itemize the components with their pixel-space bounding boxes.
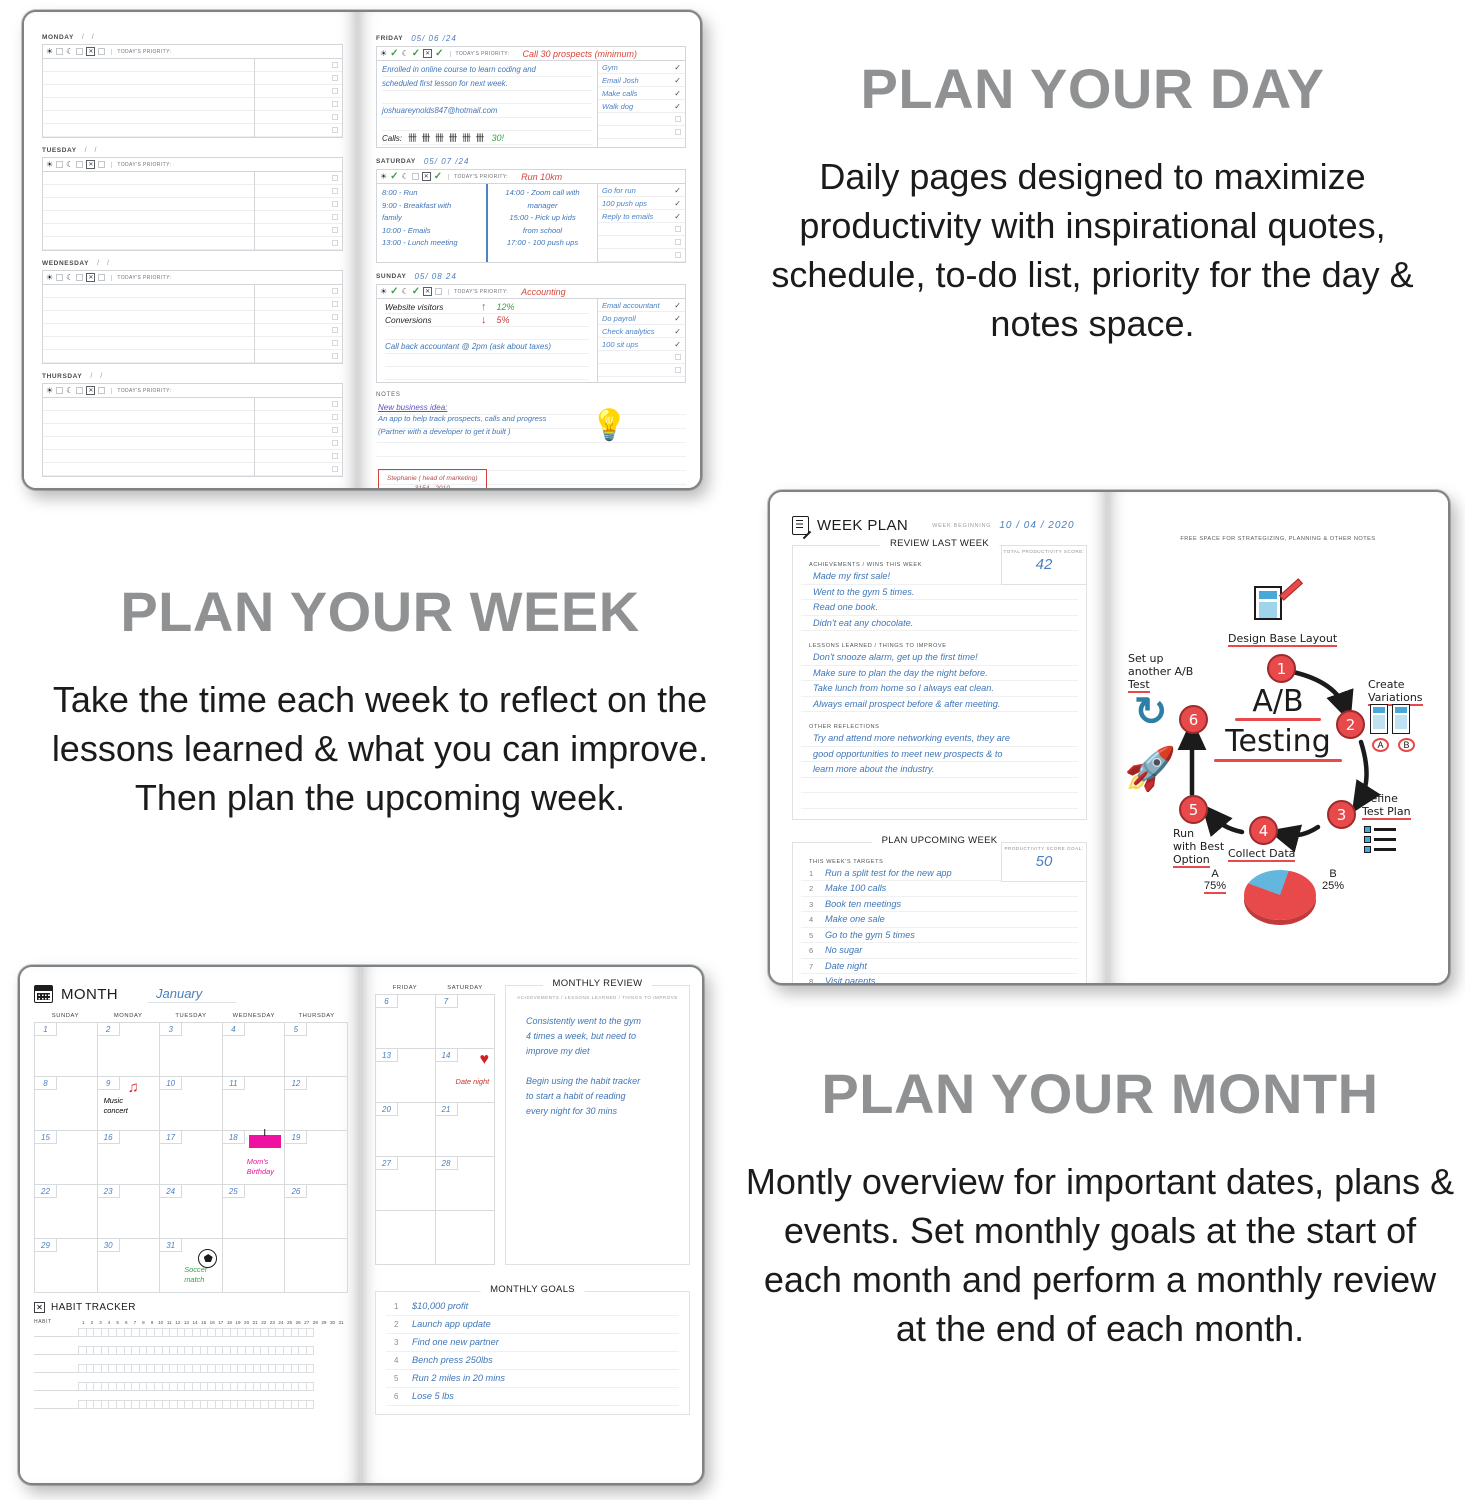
- habit-cell[interactable]: [306, 1328, 315, 1337]
- todo-checkbox[interactable]: [675, 116, 681, 122]
- todo-row[interactable]: [598, 113, 685, 126]
- day-body: Enrolled in online course to learn codin…: [376, 61, 686, 148]
- todo-checkbox[interactable]: [332, 88, 338, 94]
- todo-checkbox[interactable]: [332, 240, 338, 246]
- todo-checkbox[interactable]: [332, 62, 338, 68]
- metric-row: Website visitors↑12%: [385, 301, 589, 314]
- todo-checkbox[interactable]: [332, 301, 338, 307]
- day-block: TUESDAY/ /☀☾✕TODAY'S PRIORITY:: [42, 147, 343, 251]
- priority-label: TODAY'S PRIORITY:: [111, 275, 171, 281]
- priority-label: TODAY'S PRIORITY:: [111, 49, 171, 55]
- calls-label: Calls:: [382, 134, 402, 143]
- day-notes-area[interactable]: [43, 59, 254, 137]
- priority-row: ☀☾✕TODAY'S PRIORITY:: [42, 270, 343, 285]
- todo-row[interactable]: [255, 350, 342, 363]
- month-planner-notebook: MONTHJanuarySUNDAYMONDAYTUESDAYWEDNESDAY…: [18, 965, 704, 1485]
- schedule-column-afternoon[interactable]: 14:00 - Zoom call withmanager15:00 - Pic…: [486, 184, 597, 262]
- blank-line: [385, 327, 589, 340]
- monthly-goals-title: MONTHLY GOALS: [480, 1284, 585, 1295]
- todo-row[interactable]: [598, 236, 685, 249]
- todo-checkbox[interactable]: [332, 114, 338, 120]
- plan-your-week-copy: PLAN YOUR WEEK Take the time each week t…: [10, 583, 750, 823]
- lesson-line: Take lunch from home so I always eat cle…: [801, 681, 1078, 697]
- calendar-cell[interactable]: 11: [223, 1077, 286, 1131]
- target-text: Date night: [825, 959, 867, 974]
- day-number: 19: [285, 1131, 307, 1144]
- todo-row[interactable]: [255, 311, 342, 324]
- checkbox[interactable]: [412, 173, 419, 180]
- day-notes-area[interactable]: [43, 285, 254, 363]
- checkbox[interactable]: [76, 274, 83, 281]
- diagram-step-5: 5: [1179, 795, 1208, 824]
- habit-day-number: 31: [337, 1320, 346, 1325]
- todo-checkbox[interactable]: [332, 214, 338, 220]
- calendar-cell[interactable]: 3: [160, 1023, 223, 1077]
- day-block: MONDAY/ /☀☾✕TODAY'S PRIORITY:: [42, 34, 343, 138]
- day-body: Website visitors↑12%Conversions↓5%Call b…: [376, 299, 686, 383]
- priority-label: TODAY'S PRIORITY:: [450, 51, 510, 57]
- plan-your-month-copy: PLAN YOUR MONTH Montly overview for impo…: [745, 1065, 1455, 1354]
- day-number: 28: [436, 1157, 458, 1170]
- todo-row[interactable]: [255, 237, 342, 250]
- todo-checkbox[interactable]: [675, 239, 681, 245]
- schedule-line: manager: [493, 200, 592, 213]
- review-line: 4 times a week, but need to: [526, 1029, 669, 1044]
- day-name: THURSDAY: [42, 373, 82, 380]
- day-number: 24: [160, 1185, 182, 1198]
- calendar-cell[interactable]: 16: [98, 1131, 161, 1185]
- habit-day-number: 24: [277, 1320, 286, 1325]
- label-line: Define: [1362, 792, 1398, 805]
- todo-checkbox[interactable]: [332, 188, 338, 194]
- calendar-cell[interactable]: 17: [160, 1131, 223, 1185]
- diagram-label-1: Design Base Layout: [1228, 632, 1378, 647]
- todo-checkbox[interactable]: [675, 226, 681, 232]
- day-name: WEDNESDAY: [42, 260, 89, 267]
- todo-row[interactable]: [255, 337, 342, 350]
- sun-icon: ☀: [380, 288, 387, 296]
- schedule-line: 14:00 - Zoom call with: [493, 187, 592, 200]
- priority-row: ☀✓☾✓✕TODAY'S PRIORITY:Accounting: [376, 284, 686, 299]
- schedule-line: family: [382, 212, 481, 225]
- calendar-cell[interactable]: 6: [376, 995, 436, 1049]
- review-line: Begin using the habit tracker: [526, 1074, 669, 1089]
- todo-checkbox[interactable]: [332, 353, 338, 359]
- calendar-cell[interactable]: 1: [35, 1023, 98, 1077]
- todo-row[interactable]: [255, 285, 342, 298]
- plan-your-day-copy: PLAN YOUR DAY Daily pages designed to ma…: [735, 60, 1450, 349]
- day-block: WEDNESDAY/ /☀☾✕TODAY'S PRIORITY:: [42, 260, 343, 364]
- checkbox[interactable]: [56, 387, 63, 394]
- free-space-note: FREE SPACE FOR STRATEGIZING, PLANNING & …: [1118, 512, 1438, 542]
- x-box-icon: ✕: [86, 273, 95, 282]
- goal-text: Lose 5 lbs: [412, 1388, 454, 1405]
- review-line: every night for 30 mins: [526, 1104, 669, 1119]
- todo-row[interactable]: [255, 185, 342, 198]
- calendar-cell[interactable]: 9♫Musicconcert: [98, 1077, 161, 1131]
- goal-text: Run 2 miles in 20 mins: [412, 1370, 505, 1387]
- calendar-cell[interactable]: 22: [35, 1185, 98, 1239]
- dow-label: THURSDAY: [285, 1013, 348, 1022]
- habit-cell[interactable]: [306, 1400, 315, 1409]
- checkbox[interactable]: [56, 161, 63, 168]
- todo-row[interactable]: [598, 364, 685, 377]
- target-row[interactable]: 3Book ten meetings: [801, 897, 1078, 913]
- calendar-cell[interactable]: 31Soccermatch: [160, 1239, 223, 1293]
- todo-column: [254, 285, 342, 363]
- design-layout-icon: [1254, 586, 1282, 620]
- notepad-pencil-icon: [792, 516, 809, 535]
- goal-row[interactable]: 4Bench press 250lbs: [386, 1352, 679, 1370]
- day-number: 20: [376, 1103, 398, 1116]
- calendar-cell[interactable]: [285, 1239, 348, 1293]
- note-line: scheduled first lesson for next week.: [382, 77, 592, 91]
- calendar-cell[interactable]: 14♥Date night: [436, 1049, 496, 1103]
- calendar-cell[interactable]: 20: [376, 1103, 436, 1157]
- priority-row: ☀✓☾✕✓TODAY'S PRIORITY:Run 10km: [376, 169, 686, 184]
- calendar-event: Soccermatch: [184, 1265, 207, 1285]
- todo-row[interactable]: Email Josh✓: [598, 74, 685, 87]
- calendar-cell[interactable]: [436, 1211, 496, 1265]
- calendar-cell[interactable]: 15: [35, 1131, 98, 1185]
- todo-row[interactable]: [255, 172, 342, 185]
- habit-day-number: 19: [234, 1320, 243, 1325]
- reflection-line: Try and attend more networking events, t…: [801, 731, 1078, 747]
- calendar-cell[interactable]: 28: [436, 1157, 496, 1211]
- notes-area[interactable]: New business idea:An app to help track p…: [376, 401, 686, 490]
- plan-your-week-heading: PLAN YOUR WEEK: [10, 583, 750, 642]
- todo-checkbox[interactable]: [332, 127, 338, 133]
- todo-row[interactable]: [255, 59, 342, 72]
- plan-your-month-body: Montly overview for important dates, pla…: [745, 1158, 1455, 1354]
- calendar-cell[interactable]: 4: [223, 1023, 286, 1077]
- todo-row[interactable]: [255, 411, 342, 424]
- target-text: Go to the gym 5 times: [825, 928, 915, 943]
- todo-checkbox[interactable]: [332, 288, 338, 294]
- todo-column: [254, 172, 342, 250]
- pie-b-letter: B: [1322, 868, 1344, 880]
- schedule-column-morning[interactable]: 8:00 - Run9:00 - Breakfast withfamily10:…: [377, 184, 486, 262]
- calendar-cell[interactable]: [376, 1211, 436, 1265]
- lesson-line: Always email prospect before & after mee…: [801, 697, 1078, 713]
- target-number: 4: [809, 915, 818, 924]
- metric-label: Conversions: [385, 315, 471, 325]
- sun-icon: ☀: [380, 173, 387, 181]
- metric-arrow-icon: ↑: [481, 301, 487, 313]
- todo-checkbox[interactable]: [332, 327, 338, 333]
- target-row[interactable]: 2Make 100 calls: [801, 881, 1078, 897]
- habit-cell[interactable]: [306, 1382, 315, 1391]
- day-header: SATURDAY05/ 07 /24: [376, 157, 686, 166]
- todo-row[interactable]: [255, 211, 342, 224]
- dow-label: SUNDAY: [34, 1013, 97, 1022]
- todo-checkbox[interactable]: [332, 201, 338, 207]
- calendar-cell[interactable]: [223, 1239, 286, 1293]
- checkbox[interactable]: [76, 387, 83, 394]
- todo-label: Walk dog: [602, 102, 633, 111]
- upcoming-section-title: PLAN UPCOMING WEEK: [872, 835, 1008, 846]
- check-icon: ✓: [435, 49, 443, 59]
- calendar-cell[interactable]: 25: [223, 1185, 286, 1239]
- plan-your-week-body: Take the time each week to reflect on th…: [10, 676, 750, 823]
- label-line: with Best: [1173, 840, 1224, 853]
- target-row[interactable]: 5Go to the gym 5 times: [801, 928, 1078, 944]
- todo-row[interactable]: Make calls✓: [598, 87, 685, 100]
- week-plan-title: WEEK PLAN: [817, 517, 908, 534]
- todo-row[interactable]: [255, 85, 342, 98]
- habit-name-input[interactable]: [34, 1325, 79, 1337]
- x-box-icon: ✕: [423, 49, 432, 58]
- todo-row[interactable]: Go for run✓: [598, 184, 685, 197]
- habit-cells: [79, 1364, 314, 1373]
- todo-checkbox[interactable]: [332, 101, 338, 107]
- calendar-cell[interactable]: 8: [35, 1077, 98, 1131]
- target-row[interactable]: 7Date night: [801, 959, 1078, 975]
- todo-checkbox[interactable]: [332, 175, 338, 181]
- diagram-label-6: Set upanother A/BTest: [1128, 652, 1223, 693]
- target-row[interactable]: 8Visit parents: [801, 974, 1078, 985]
- calendar-grid-left: 1234589♫Musicconcert10111215161718Mom'sB…: [34, 1022, 348, 1293]
- month-name-value[interactable]: January: [148, 986, 236, 1003]
- day-body: [42, 398, 343, 477]
- todo-checkbox[interactable]: [332, 314, 338, 320]
- todo-row[interactable]: [255, 398, 342, 411]
- todo-checkbox[interactable]: [675, 354, 681, 360]
- todo-row[interactable]: [598, 223, 685, 236]
- diagram-step-2: 2: [1336, 710, 1365, 739]
- todo-checkbox[interactable]: [332, 414, 338, 420]
- habit-day-number: 17: [217, 1320, 226, 1325]
- calendar-cell[interactable]: 19: [285, 1131, 348, 1185]
- checkbox[interactable]: [76, 48, 83, 55]
- habit-cells: [79, 1346, 314, 1355]
- calendar-cell[interactable]: 30: [98, 1239, 161, 1293]
- checkbox[interactable]: [98, 161, 105, 168]
- todo-checkbox[interactable]: [675, 129, 681, 135]
- moon-icon: ☾: [402, 288, 409, 296]
- calendar-cell[interactable]: 29: [35, 1239, 98, 1293]
- metric-arrow-icon: ↓: [481, 314, 487, 326]
- lessons-label: LESSONS LEARNED / THINGS TO IMPROVE: [809, 643, 1078, 649]
- goal-text: Bench press 250lbs: [412, 1352, 493, 1369]
- todo-checkbox[interactable]: [675, 252, 681, 258]
- goal-row[interactable]: 1$10,000 profit: [386, 1298, 679, 1316]
- day-header: SUNDAY05/ 08 24: [376, 272, 686, 281]
- priority-label: TODAY'S PRIORITY:: [448, 289, 508, 295]
- monthly-review-section: MONTHLY REVIEWACHIEVEMENTS / LESSONS LEA…: [505, 985, 690, 1265]
- habit-day-number: 9: [148, 1320, 157, 1325]
- check-icon: ✓: [674, 199, 681, 208]
- habit-row: [34, 1397, 348, 1409]
- target-number: 6: [809, 946, 818, 955]
- todo-checkbox[interactable]: [332, 340, 338, 346]
- day-number: 11: [223, 1077, 245, 1090]
- todo-row[interactable]: Reply to emails✓: [598, 210, 685, 223]
- check-icon: ✓: [434, 172, 442, 182]
- checkbox[interactable]: [98, 387, 105, 394]
- todo-row[interactable]: 100 sit ups✓: [598, 338, 685, 351]
- habit-day-number: 13: [182, 1320, 191, 1325]
- calendar-cell[interactable]: 27: [376, 1157, 436, 1211]
- contact-name: Stephanie ( head of marketing): [387, 474, 478, 484]
- todo-row[interactable]: [255, 324, 342, 337]
- daily-planner-notebook: MONDAY/ /☀☾✕TODAY'S PRIORITY:TUESDAY/ /☀…: [22, 10, 702, 490]
- todo-row[interactable]: [598, 351, 685, 364]
- calls-total: 30!: [492, 133, 505, 143]
- sun-icon: ☀: [46, 48, 53, 56]
- calendar-cell[interactable]: 7: [436, 995, 496, 1049]
- todo-row[interactable]: Check analytics✓: [598, 325, 685, 338]
- day-body: [42, 59, 343, 138]
- calendar-cell[interactable]: 12: [285, 1077, 348, 1131]
- day-number: 21: [436, 1103, 458, 1116]
- total-productivity-score: TOTAL PRODUCTIVITY SCORE:42: [1001, 545, 1087, 585]
- day-number: 31: [160, 1239, 182, 1252]
- day-notes-area[interactable]: [43, 398, 254, 476]
- habit-name-input[interactable]: [34, 1379, 79, 1391]
- todo-checkbox[interactable]: [332, 227, 338, 233]
- achievement-line: Didn't eat any chocolate.: [801, 616, 1078, 632]
- todo-checkbox[interactable]: [332, 453, 338, 459]
- blank-line: [385, 354, 589, 367]
- day-number: 23: [98, 1185, 120, 1198]
- todo-row[interactable]: [255, 437, 342, 450]
- todo-checkbox[interactable]: [332, 427, 338, 433]
- metric-label: Website visitors: [385, 302, 471, 312]
- check-icon: ✓: [674, 186, 681, 195]
- calendar-cell[interactable]: 24: [160, 1185, 223, 1239]
- habit-row: [34, 1361, 348, 1373]
- todo-checkbox[interactable]: [332, 75, 338, 81]
- todo-row[interactable]: [255, 224, 342, 237]
- todo-row[interactable]: [255, 450, 342, 463]
- moon-icon: ☾: [402, 50, 409, 58]
- goal-number: 1: [394, 1302, 404, 1311]
- todo-column: [254, 398, 342, 476]
- day-number: 30: [98, 1239, 120, 1252]
- todo-checkbox[interactable]: [675, 367, 681, 373]
- habit-day-numbers: 1234567891011121314151617181920212223242…: [79, 1320, 345, 1325]
- goal-row[interactable]: 5Run 2 miles in 20 mins: [386, 1370, 679, 1388]
- todo-row[interactable]: [255, 72, 342, 85]
- day-date: / /: [97, 260, 112, 267]
- habit-day-number: 21: [251, 1320, 260, 1325]
- todo-row[interactable]: [255, 98, 342, 111]
- habit-name-input[interactable]: [34, 1397, 79, 1409]
- todo-row[interactable]: [255, 298, 342, 311]
- notes-line: (Partner with a developer to get it buil…: [378, 425, 546, 438]
- habit-day-number: 7: [131, 1320, 140, 1325]
- todo-row[interactable]: [598, 249, 685, 262]
- label-line: Test Plan: [1362, 805, 1411, 820]
- habit-day-numbers-row: HABIT12345678910111213141516171819202122…: [34, 1319, 348, 1325]
- todo-checkbox[interactable]: [332, 440, 338, 446]
- day-notes-area[interactable]: Enrolled in online course to learn codin…: [377, 61, 597, 147]
- todo-row[interactable]: Walk dog✓: [598, 100, 685, 113]
- gift-icon: [249, 1135, 281, 1148]
- day-notes-area[interactable]: [43, 172, 254, 250]
- monthly-review-body[interactable]: Consistently went to the gym4 times a we…: [516, 1000, 679, 1119]
- checkbox[interactable]: [56, 48, 63, 55]
- habit-name-input[interactable]: [34, 1343, 79, 1355]
- goal-row[interactable]: 2Launch app update: [386, 1316, 679, 1334]
- test-plan-checklist-icon: [1364, 826, 1396, 856]
- checkbox[interactable]: [56, 274, 63, 281]
- habit-day-number: 20: [242, 1320, 251, 1325]
- habit-name-input[interactable]: [34, 1361, 79, 1373]
- todo-checkbox[interactable]: [332, 466, 338, 472]
- todo-row[interactable]: Do payroll✓: [598, 312, 685, 325]
- habit-day-number: 23: [268, 1320, 277, 1325]
- calendar-cell[interactable]: 18Mom'sBirthday: [223, 1131, 286, 1185]
- todo-row[interactable]: [598, 126, 685, 139]
- habit-cell[interactable]: [306, 1346, 315, 1355]
- calendar-cell[interactable]: 13: [376, 1049, 436, 1103]
- contact-box: Stephanie ( head of marketing)3154 - 201…: [378, 469, 487, 490]
- todo-row[interactable]: 100 push ups✓: [598, 197, 685, 210]
- schedule-line: 17:00 - 100 push ups: [493, 237, 592, 250]
- todo-row[interactable]: Email accountant✓: [598, 299, 685, 312]
- calendar-cell[interactable]: 10: [160, 1077, 223, 1131]
- target-row[interactable]: 6No sugar: [801, 943, 1078, 959]
- todo-row[interactable]: Gym✓: [598, 61, 685, 74]
- todo-row[interactable]: [255, 124, 342, 137]
- calendar-cell[interactable]: 21: [436, 1103, 496, 1157]
- note-line: joshuareynolds847@hotmail.com: [382, 104, 592, 118]
- habit-day-number: 2: [88, 1320, 97, 1325]
- goal-text: Find one new partner: [412, 1334, 499, 1351]
- calendar-cell[interactable]: 26: [285, 1185, 348, 1239]
- todo-row[interactable]: [255, 111, 342, 124]
- calendar-grid-right: 671314♥Date night20212728: [375, 994, 495, 1265]
- checkbox[interactable]: [98, 48, 105, 55]
- day-block: THURSDAY/ /☀☾✕TODAY'S PRIORITY:: [42, 373, 343, 477]
- checkbox[interactable]: [435, 288, 442, 295]
- checkbox[interactable]: [98, 274, 105, 281]
- label-line: Design Base Layout: [1228, 632, 1337, 647]
- plan-upcoming-week-section: PLAN UPCOMING WEEKPRODUCTIVITY SCORE GOA…: [792, 842, 1087, 986]
- calendar-cell[interactable]: 23: [98, 1185, 161, 1239]
- calendar-cell[interactable]: 2: [98, 1023, 161, 1077]
- schedule-line: from school: [493, 225, 592, 238]
- target-number: 2: [809, 884, 818, 893]
- ruled-lines: [43, 59, 254, 137]
- habit-cells: [79, 1400, 314, 1409]
- todo-row[interactable]: [255, 198, 342, 211]
- notes-title-underlined: New business idea:: [378, 403, 546, 412]
- target-row[interactable]: 4Make one sale: [801, 912, 1078, 928]
- goal-row[interactable]: 6Lose 5 lbs: [386, 1388, 679, 1406]
- todo-row[interactable]: [255, 463, 342, 476]
- todo-checkbox[interactable]: [332, 401, 338, 407]
- todo-row[interactable]: [255, 424, 342, 437]
- habit-cell[interactable]: [306, 1364, 315, 1373]
- check-icon: ✓: [674, 327, 681, 336]
- goal-number: 6: [394, 1392, 404, 1401]
- target-text: Run a split test for the new app: [825, 866, 952, 881]
- ruled-lines: [43, 285, 254, 363]
- day-notes-area[interactable]: Website visitors↑12%Conversions↓5%Call b…: [377, 299, 597, 382]
- day-number: 3: [160, 1023, 182, 1036]
- sun-icon: ☀: [46, 161, 53, 169]
- checkbox[interactable]: [76, 161, 83, 168]
- note-line: [382, 91, 592, 104]
- goal-row[interactable]: 3Find one new partner: [386, 1334, 679, 1352]
- todo-label: Gym: [602, 63, 618, 72]
- calendar-cell[interactable]: 5: [285, 1023, 348, 1077]
- day-number: 26: [285, 1185, 307, 1198]
- moon-icon: ☾: [66, 161, 73, 169]
